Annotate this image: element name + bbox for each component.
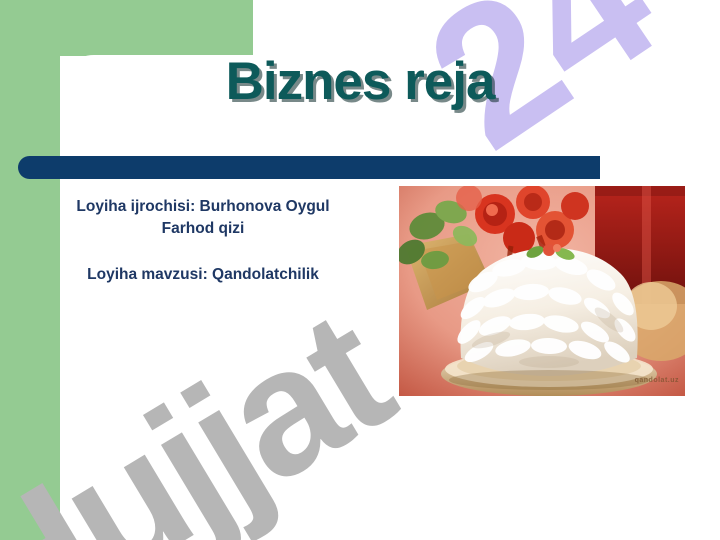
presenter-line-2: Farhod qizi: [18, 218, 388, 240]
slide-title: Biznes reja: [60, 52, 660, 113]
subtitle-spacer: [18, 240, 388, 264]
cake-photo-illustration: [399, 186, 685, 396]
presenter-line-1: Loyiha ijrochisi: Burhonova Oygul: [18, 196, 388, 218]
subtitle-block: Loyiha ijrochisi: Burhonova Oygul Farhod…: [18, 196, 388, 286]
cake-photo: qandolat.uz: [399, 186, 685, 396]
green-top-block: [0, 0, 253, 56]
presentation-slide: 24 Hujjat Biznes reja Loyiha ijrochisi: …: [0, 0, 720, 540]
photo-credit-text: qandolat.uz: [635, 377, 679, 384]
project-topic-line: Loyiha mavzusi: Qandolatchilik: [18, 264, 388, 286]
navy-divider-bar: [18, 156, 600, 179]
